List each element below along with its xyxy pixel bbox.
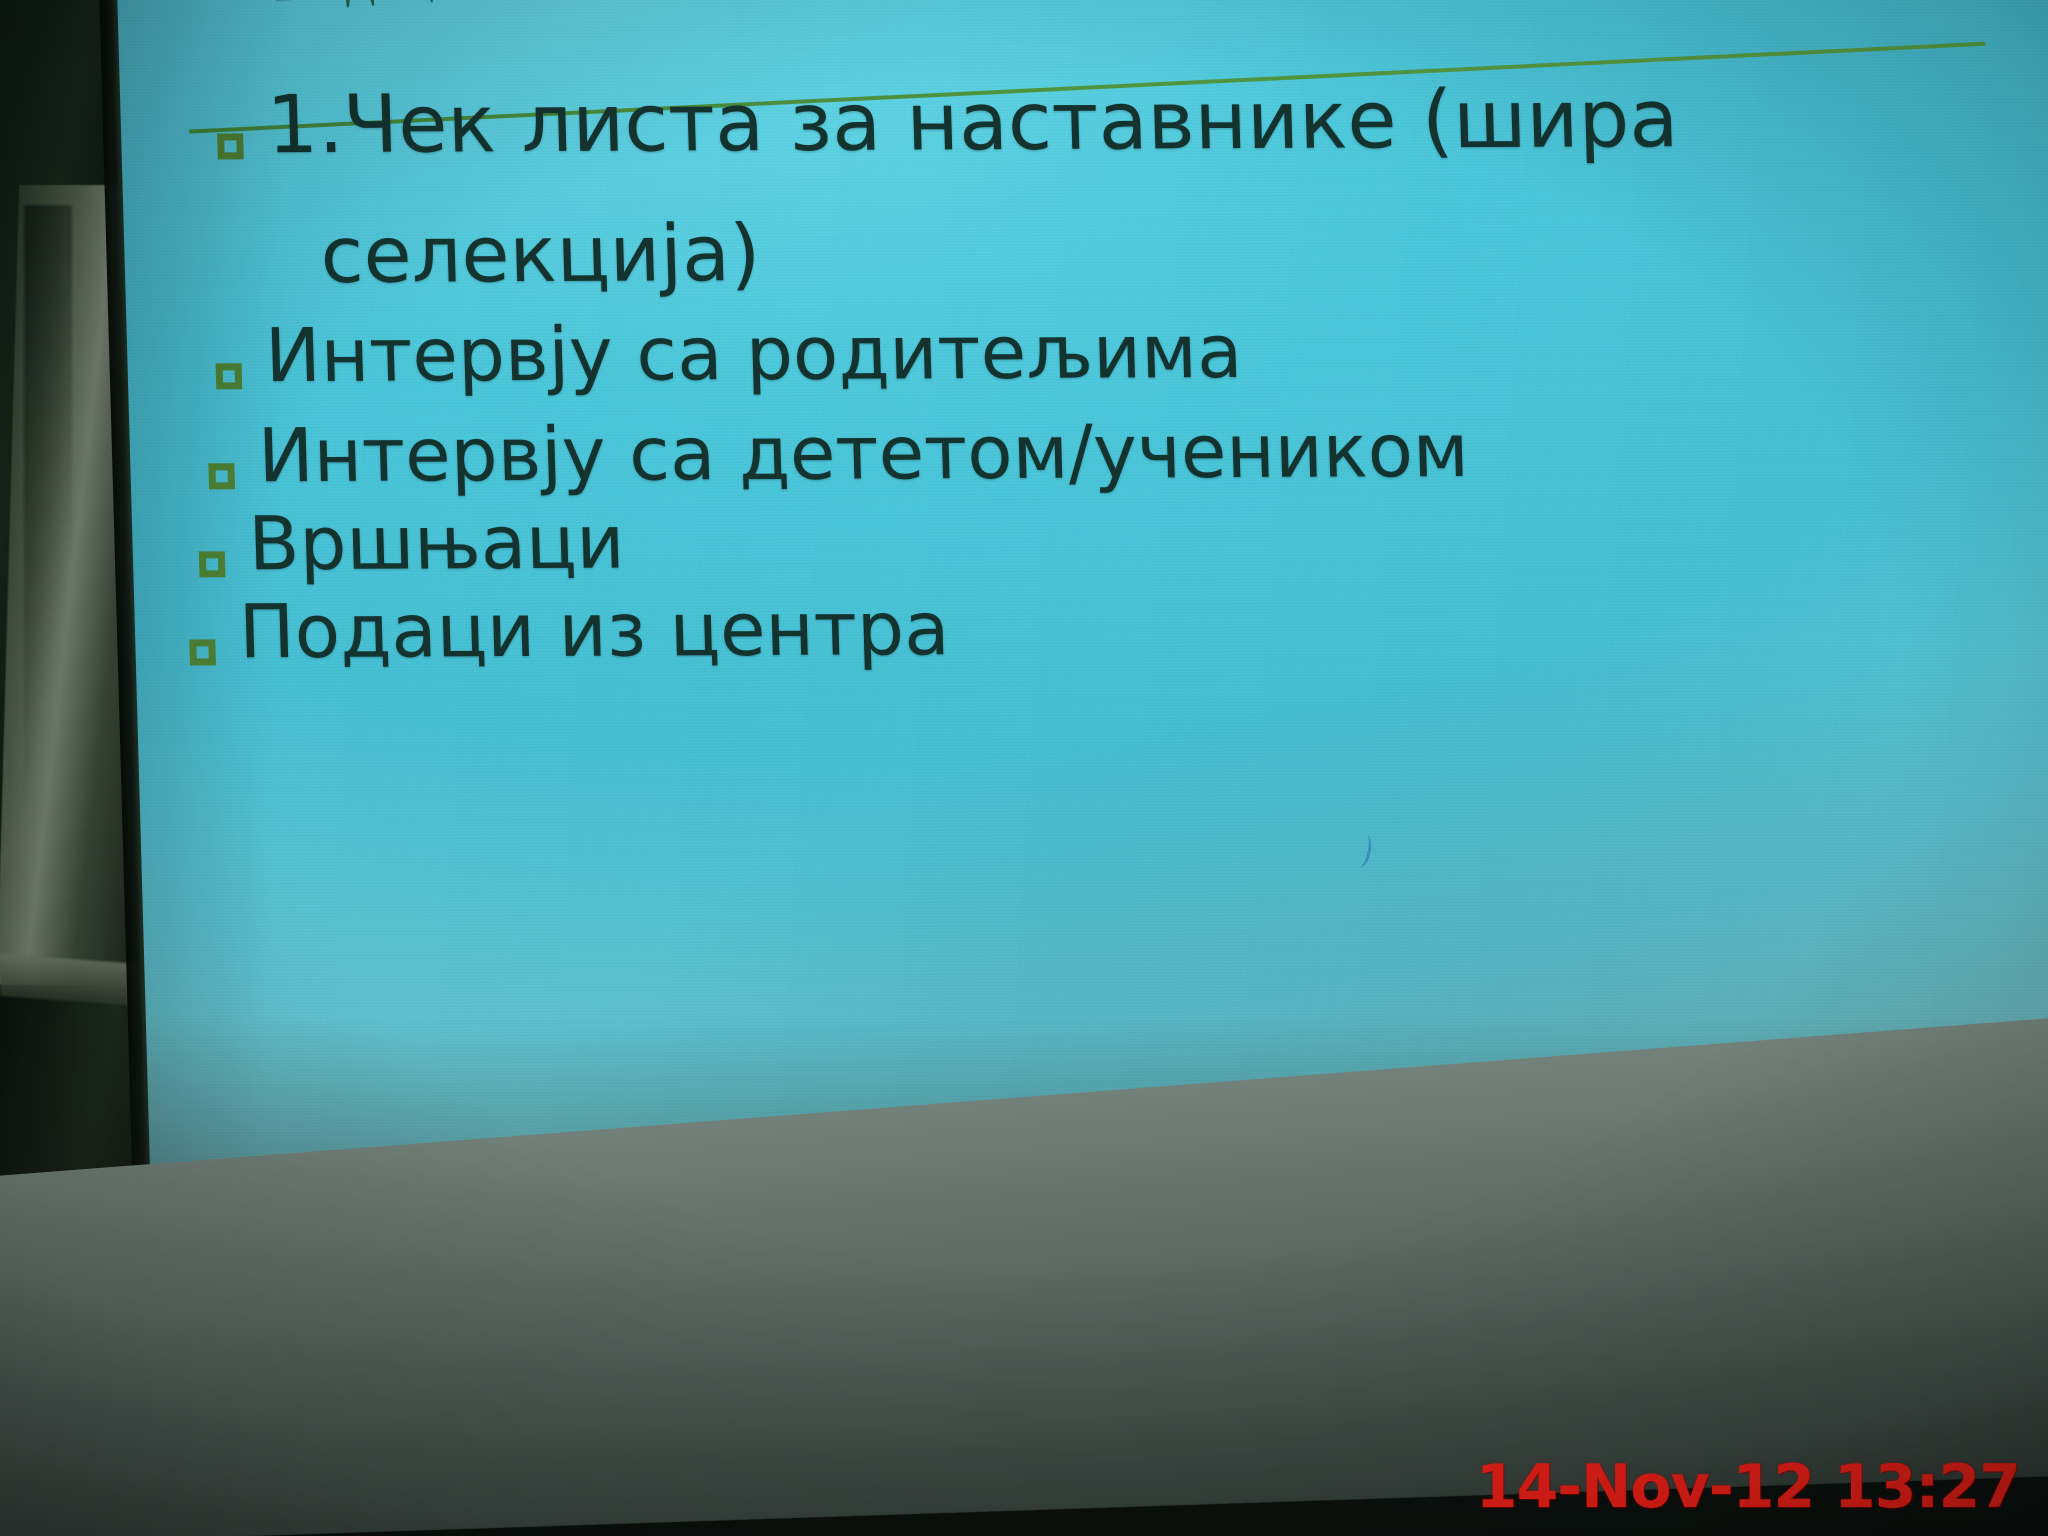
list-item: Вршњаци [198,506,626,582]
list-item-label: Интервју са родитељима [264,315,1243,393]
camera-date-stamp: 14-Nov-12 13:27 [1476,1452,2020,1522]
square-bullet-icon [208,463,235,489]
slide-title: Подаци од наставника, родитеља, ученика [270,0,1354,14]
photograph: Подаци од наставника, родитеља, ученика … [0,0,2048,1536]
list-item-label: 1.Чек листа за наставнике (шира [266,79,1679,165]
square-bullet-icon [189,639,216,665]
list-item-wrapped-line: селекција) [319,215,761,295]
list-item: Интервју са родитељима [214,315,1243,393]
list-item: Подаци из центра [188,592,950,669]
list-item-label: Вршњаци [248,506,626,582]
list-item: 1.Чек листа за наставнике (шира [216,79,1679,165]
screen-stray-mark [1354,833,1374,869]
square-bullet-icon [216,363,243,389]
list-item: Интервју са дететом/учеником [207,414,1470,493]
square-bullet-icon [199,551,226,577]
list-item-label: Подаци из центра [238,592,950,669]
square-bullet-icon [217,133,244,159]
window-glass [24,205,72,965]
list-item-label: Интервју са дететом/учеником [257,414,1470,493]
